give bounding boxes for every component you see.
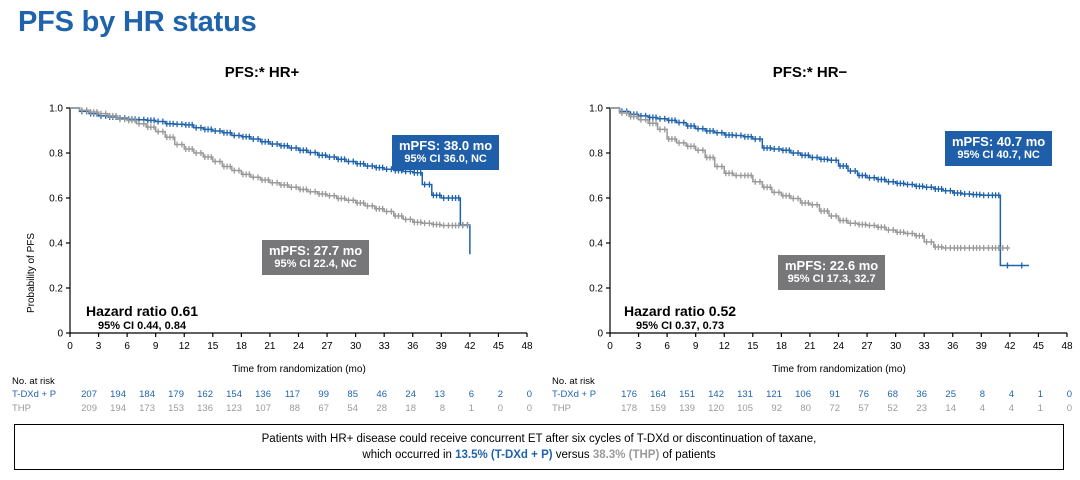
footnote-line-1: Patients with HR+ disease could receive … bbox=[262, 431, 817, 447]
svg-text:27: 27 bbox=[322, 341, 334, 352]
x-axis-label-right: Time from randomization (mo) bbox=[610, 364, 1068, 375]
km-plot-hr-negative: 00.20.40.60.81.0036912151821242730333639… bbox=[540, 58, 1080, 368]
svg-text:21: 21 bbox=[264, 341, 276, 352]
svg-text:27: 27 bbox=[862, 341, 874, 352]
risk-cell: 36 bbox=[898, 388, 927, 402]
svg-text:12: 12 bbox=[719, 341, 731, 352]
risk-cell: 121 bbox=[753, 388, 782, 402]
risk-cell: 123 bbox=[213, 402, 242, 416]
svg-text:36: 36 bbox=[407, 341, 419, 352]
risk-cell: 57 bbox=[840, 402, 869, 416]
svg-text:33: 33 bbox=[919, 341, 931, 352]
panel-hr-negative: PFS:* HR− 00.20.40.60.81.003691215182124… bbox=[540, 58, 1080, 418]
risk-cell: 179 bbox=[155, 388, 184, 402]
risk-table-header-left: No. at risk bbox=[12, 376, 55, 387]
svg-text:9: 9 bbox=[153, 341, 159, 352]
svg-text:0.4: 0.4 bbox=[49, 239, 63, 250]
risk-cell: 194 bbox=[97, 388, 126, 402]
risk-row-tdxd: T-DXd + P2071941841791621541361179985462… bbox=[12, 388, 532, 402]
footnote-box: Patients with HR+ disease could receive … bbox=[14, 424, 1064, 470]
risk-cell: 67 bbox=[300, 402, 329, 416]
risk-cell: 164 bbox=[637, 388, 666, 402]
risk-cell: 173 bbox=[126, 402, 155, 416]
svg-text:12: 12 bbox=[179, 341, 191, 352]
svg-text:3: 3 bbox=[636, 341, 642, 352]
risk-row-label: THP bbox=[552, 402, 608, 416]
risk-cell: 76 bbox=[840, 388, 869, 402]
svg-text:48: 48 bbox=[1061, 341, 1073, 352]
risk-cell: 1 bbox=[1014, 402, 1043, 416]
svg-text:1.0: 1.0 bbox=[589, 104, 603, 115]
svg-text:0.2: 0.2 bbox=[49, 284, 63, 295]
svg-text:21: 21 bbox=[804, 341, 816, 352]
svg-text:24: 24 bbox=[293, 341, 305, 352]
risk-cell: 8 bbox=[416, 402, 445, 416]
panel-hr-positive: PFS:* HR+ 00.20.40.60.81.003691215182124… bbox=[0, 58, 540, 418]
svg-text:39: 39 bbox=[976, 341, 988, 352]
x-axis-label-left: Time from randomization (mo) bbox=[70, 364, 528, 375]
risk-cell: 105 bbox=[724, 402, 753, 416]
svg-text:0: 0 bbox=[67, 341, 73, 352]
risk-cell: 14 bbox=[927, 402, 956, 416]
risk-cell: 1 bbox=[1014, 388, 1043, 402]
risk-cell: 0 bbox=[503, 402, 532, 416]
svg-text:42: 42 bbox=[464, 341, 476, 352]
risk-cell: 4 bbox=[985, 402, 1014, 416]
risk-cell: 0 bbox=[1043, 402, 1072, 416]
risk-cell: 25 bbox=[927, 388, 956, 402]
svg-text:33: 33 bbox=[379, 341, 391, 352]
risk-cell: 13 bbox=[416, 388, 445, 402]
risk-cell: 46 bbox=[358, 388, 387, 402]
risk-cell: 117 bbox=[271, 388, 300, 402]
risk-cell: 120 bbox=[695, 402, 724, 416]
risk-cell: 139 bbox=[666, 402, 695, 416]
risk-cell: 153 bbox=[155, 402, 184, 416]
svg-text:6: 6 bbox=[124, 341, 130, 352]
risk-cell: 54 bbox=[329, 402, 358, 416]
risk-row-thp: THP20919417315313612310788675428188100 bbox=[12, 402, 532, 416]
km-chart-svg-left: 00.20.40.60.81.0036912151821242730333639… bbox=[0, 58, 540, 368]
y-axis-label-left: Probability of PFS bbox=[26, 233, 37, 313]
risk-cell: 107 bbox=[242, 402, 271, 416]
km-plot-hr-positive: 00.20.40.60.81.0036912151821242730333639… bbox=[0, 58, 540, 368]
risk-cell: 72 bbox=[811, 402, 840, 416]
risk-cell: 52 bbox=[869, 402, 898, 416]
svg-text:0.8: 0.8 bbox=[49, 149, 63, 160]
risk-cell: 85 bbox=[329, 388, 358, 402]
svg-text:0.2: 0.2 bbox=[589, 284, 603, 295]
svg-text:24: 24 bbox=[833, 341, 845, 352]
footnote-line-2: which occurred in 13.5% (T-DXd + P) vers… bbox=[362, 447, 715, 463]
risk-cell: 136 bbox=[242, 388, 271, 402]
svg-text:45: 45 bbox=[493, 341, 505, 352]
svg-text:15: 15 bbox=[747, 341, 759, 352]
svg-text:36: 36 bbox=[947, 341, 959, 352]
risk-cell: 8 bbox=[956, 388, 985, 402]
risk-row-label: T-DXd + P bbox=[12, 388, 68, 402]
risk-cell: 99 bbox=[300, 388, 329, 402]
footnote-thp-pct: 38.3% (THP) bbox=[593, 449, 659, 461]
hazard-ratio-box-right: Hazard ratio 0.52 95% CI 0.37, 0.73 bbox=[624, 303, 736, 333]
svg-text:42: 42 bbox=[1004, 341, 1016, 352]
svg-text:0.8: 0.8 bbox=[589, 149, 603, 160]
risk-cell: 106 bbox=[782, 388, 811, 402]
svg-text:3: 3 bbox=[96, 341, 102, 352]
risk-table-left: T-DXd + P2071941841791621541361179985462… bbox=[12, 388, 532, 416]
svg-text:18: 18 bbox=[776, 341, 788, 352]
footnote-tdxd-pct: 13.5% (T-DXd + P) bbox=[455, 449, 552, 461]
footnote-prefix: which occurred in bbox=[362, 449, 455, 461]
risk-cell: 151 bbox=[666, 388, 695, 402]
risk-cell: 23 bbox=[898, 402, 927, 416]
risk-row-label: T-DXd + P bbox=[552, 388, 608, 402]
risk-cell: 209 bbox=[68, 402, 97, 416]
risk-cell: 0 bbox=[474, 402, 503, 416]
risk-cell: 162 bbox=[184, 388, 213, 402]
svg-text:6: 6 bbox=[664, 341, 670, 352]
svg-text:0: 0 bbox=[607, 341, 613, 352]
risk-cell: 0 bbox=[1043, 388, 1072, 402]
risk-cell: 178 bbox=[608, 402, 637, 416]
svg-text:0.6: 0.6 bbox=[49, 194, 63, 205]
annotation-mpfs-tdxd-left: mPFS: 38.0 mo 95% CI 36.0, NC bbox=[392, 135, 499, 170]
risk-row-tdxd: T-DXd + P1761641511421311211069176683625… bbox=[552, 388, 1072, 402]
risk-cell: 1 bbox=[445, 402, 474, 416]
footnote-suffix: of patients bbox=[659, 449, 715, 461]
risk-table-header-right: No. at risk bbox=[552, 376, 595, 387]
svg-text:18: 18 bbox=[236, 341, 248, 352]
risk-cell: 0 bbox=[503, 388, 532, 402]
risk-cell: 194 bbox=[97, 402, 126, 416]
risk-cell: 4 bbox=[985, 388, 1014, 402]
risk-cell: 24 bbox=[387, 388, 416, 402]
km-chart-svg-right: 00.20.40.60.81.0036912151821242730333639… bbox=[540, 58, 1080, 368]
risk-cell: 136 bbox=[184, 402, 213, 416]
footnote-versus: versus bbox=[553, 449, 593, 461]
svg-text:0.6: 0.6 bbox=[589, 194, 603, 205]
risk-row-label: THP bbox=[12, 402, 68, 416]
risk-cell: 131 bbox=[724, 388, 753, 402]
risk-cell: 176 bbox=[608, 388, 637, 402]
risk-cell: 184 bbox=[126, 388, 155, 402]
hazard-ratio-box-left: Hazard ratio 0.61 95% CI 0.44, 0.84 bbox=[86, 303, 198, 333]
svg-text:45: 45 bbox=[1033, 341, 1045, 352]
risk-cell: 91 bbox=[811, 388, 840, 402]
risk-cell: 142 bbox=[695, 388, 724, 402]
risk-row-thp: THP178159139120105928072575223144410 bbox=[552, 402, 1072, 416]
annotation-mpfs-tdxd-right: mPFS: 40.7 mo 95% CI 40.7, NC bbox=[945, 131, 1052, 166]
svg-text:39: 39 bbox=[436, 341, 448, 352]
svg-text:1.0: 1.0 bbox=[49, 104, 63, 115]
svg-text:0: 0 bbox=[57, 329, 63, 340]
svg-text:15: 15 bbox=[207, 341, 219, 352]
svg-text:30: 30 bbox=[350, 341, 362, 352]
svg-text:9: 9 bbox=[693, 341, 699, 352]
svg-text:48: 48 bbox=[521, 341, 533, 352]
risk-cell: 2 bbox=[474, 388, 503, 402]
risk-cell: 18 bbox=[387, 402, 416, 416]
risk-cell: 207 bbox=[68, 388, 97, 402]
risk-cell: 6 bbox=[445, 388, 474, 402]
risk-table-right: T-DXd + P1761641511421311211069176683625… bbox=[552, 388, 1072, 416]
annotation-mpfs-thp-left: mPFS: 27.7 mo 95% CI 22.4, NC bbox=[262, 240, 369, 275]
risk-cell: 154 bbox=[213, 388, 242, 402]
slide-root: PFS by HR status PFS:* HR+ 00.20.40.60.8… bbox=[0, 0, 1080, 480]
svg-text:0.4: 0.4 bbox=[589, 239, 603, 250]
risk-cell: 68 bbox=[869, 388, 898, 402]
svg-text:0: 0 bbox=[597, 329, 603, 340]
annotation-mpfs-thp-right: mPFS: 22.6 mo 95% CI 17.3, 32.7 bbox=[778, 255, 885, 290]
risk-cell: 92 bbox=[753, 402, 782, 416]
risk-cell: 4 bbox=[956, 402, 985, 416]
risk-cell: 88 bbox=[271, 402, 300, 416]
page-title: PFS by HR status bbox=[18, 6, 257, 39]
svg-text:30: 30 bbox=[890, 341, 902, 352]
risk-cell: 80 bbox=[782, 402, 811, 416]
risk-cell: 159 bbox=[637, 402, 666, 416]
risk-cell: 28 bbox=[358, 402, 387, 416]
